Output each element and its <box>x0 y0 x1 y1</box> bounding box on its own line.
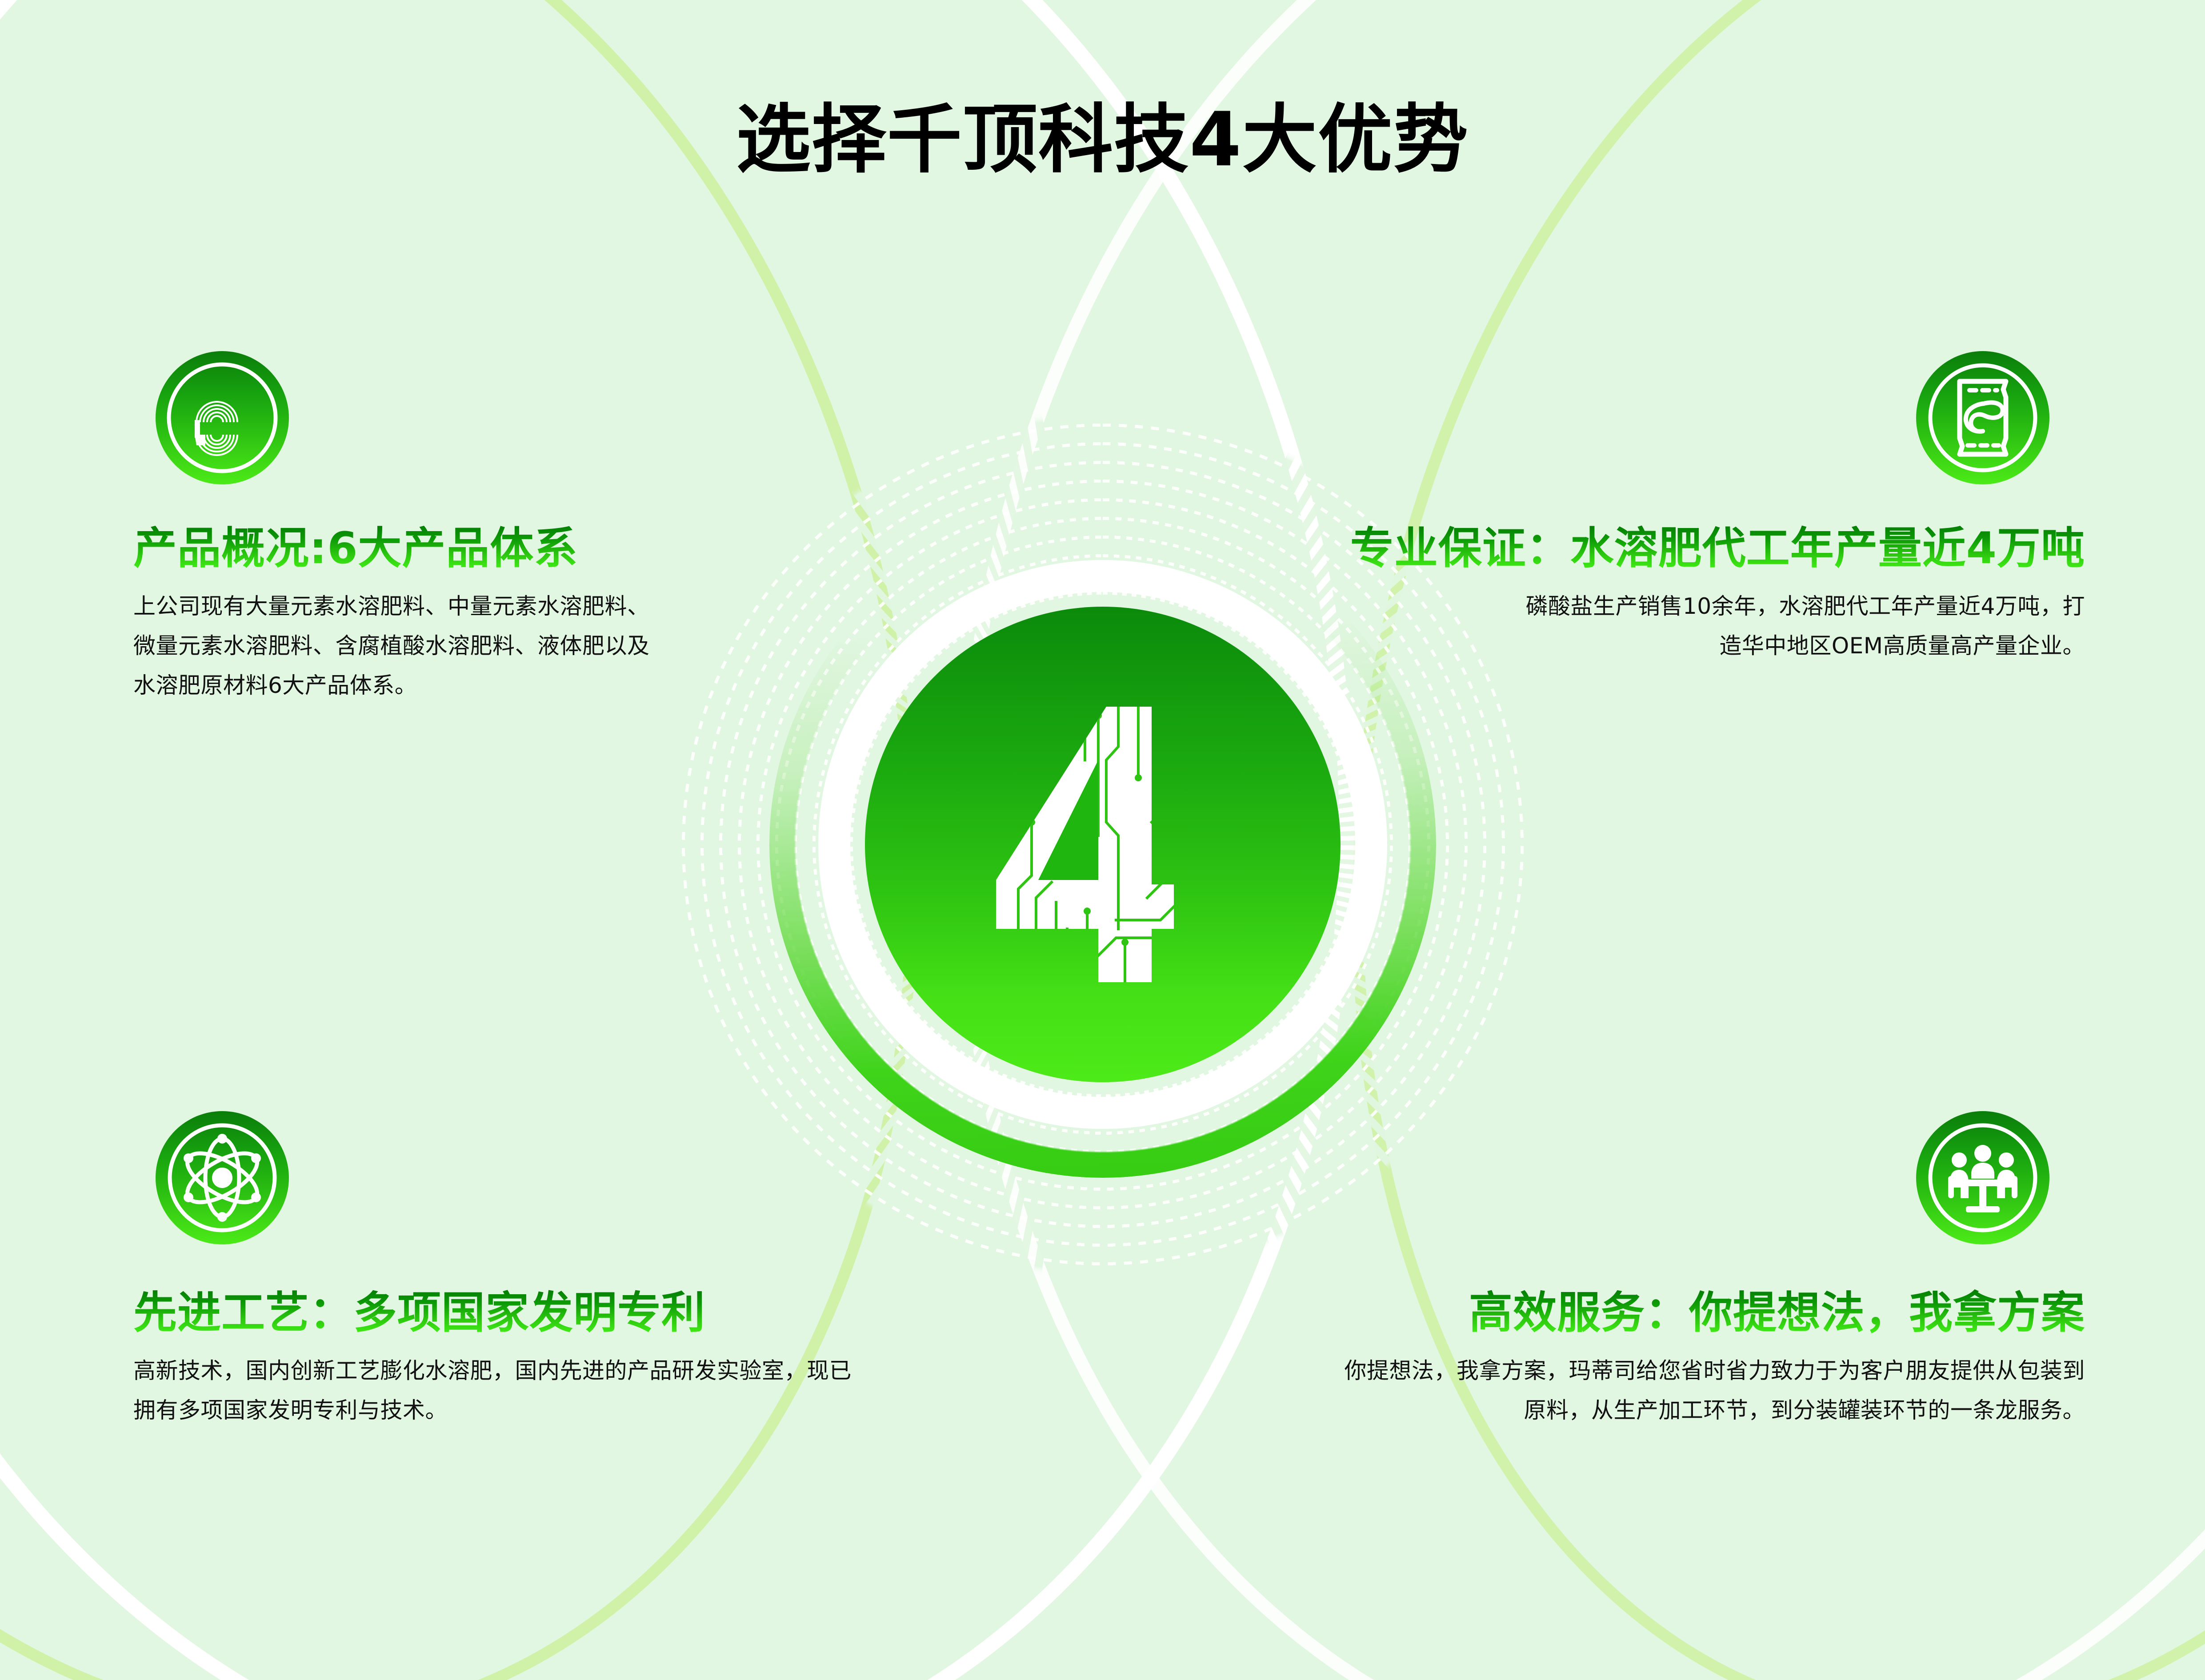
advantage-body-bottom-left: 高新技术，国内创新工艺膨化水溶肥，国内先进的产品研发实验室，现已拥有多项国家发明… <box>133 1351 862 1430</box>
advantage-body-top-right: 磷酸盐生产销售10余年，水溶肥代工年产量近4万吨，打造华中地区OEM高质量高产量… <box>1512 587 2085 666</box>
six-spiral-icon <box>156 351 289 484</box>
advantage-block-bottom-left: 先进工艺：多项国家发明专利 高新技术，国内创新工艺膨化水溶肥，国内先进的产品研发… <box>133 1289 898 1430</box>
advantage-body-bottom-right: 你提想法，我拿方案，玛蒂司给您省时省力致力于为客户朋友提供从包装到原料，从生产加… <box>1334 1351 2085 1430</box>
advantage-icon-top-left <box>156 351 289 484</box>
advantage-icon-bottom-right <box>1916 1111 2049 1244</box>
fertilizer-bag-icon <box>1916 351 2049 484</box>
advantage-icon-top-right <box>1916 351 2049 484</box>
advantage-body-top-left: 上公司现有大量元素水溶肥料、中量元素水溶肥料、微量元素水溶肥料、含腐植酸水溶肥料… <box>133 587 658 705</box>
advantage-title-top-left: 产品概况:6大产品体系 <box>133 524 764 573</box>
meeting-table-icon <box>1916 1111 2049 1244</box>
advantage-block-top-right: 专业保证：水溶肥代工年产量近4万吨 磷酸盐生产销售10余年，水溶肥代工年产量近4… <box>1205 524 2085 666</box>
advantage-title-top-right: 专业保证：水溶肥代工年产量近4万吨 <box>1205 524 2085 573</box>
advantage-title-bottom-right: 高效服务：你提想法，我拿方案 <box>1303 1289 2085 1338</box>
center-number-badge <box>865 607 1341 1082</box>
number-four-circuit-icon <box>965 689 1241 1000</box>
atom-icon <box>156 1111 289 1244</box>
advantage-title-bottom-left: 先进工艺：多项国家发明专利 <box>133 1289 898 1338</box>
advantage-block-top-left: 产品概况:6大产品体系 上公司现有大量元素水溶肥料、中量元素水溶肥料、微量元素水… <box>133 524 764 705</box>
advantage-block-bottom-right: 高效服务：你提想法，我拿方案 你提想法，我拿方案，玛蒂司给您省时省力致力于为客户… <box>1303 1289 2085 1430</box>
page-title: 选择千顶科技4大优势 <box>0 102 2205 177</box>
advantage-icon-bottom-left <box>156 1111 289 1244</box>
